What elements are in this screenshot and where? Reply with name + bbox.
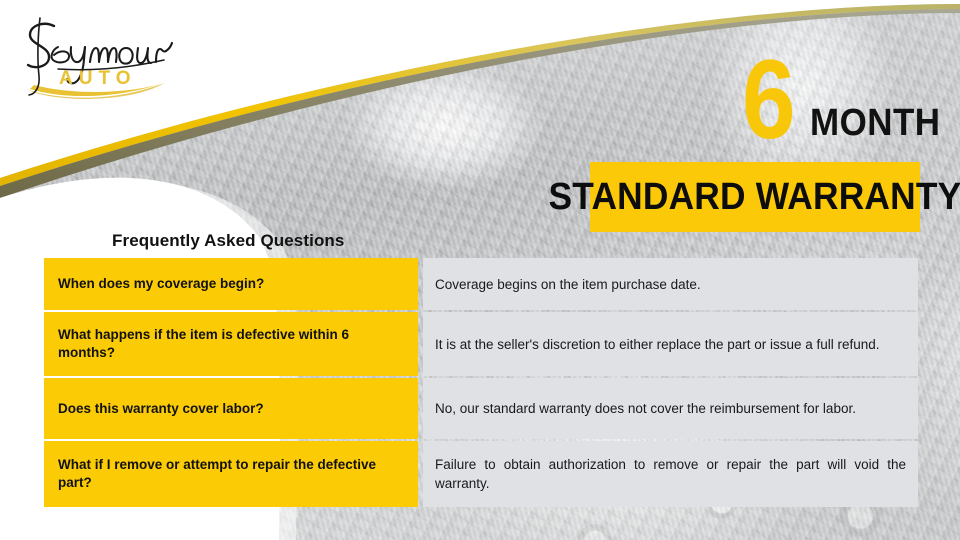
warranty-slide: AUTO 6 MONTH STANDARD WARRANTY Frequentl… [0,0,960,540]
standard-warranty-banner-text: STANDARD WARRANTY [549,177,960,217]
faq-question: What happens if the item is defective wi… [44,312,418,376]
faq-answer: Failure to obtain authorization to remov… [423,441,918,507]
svg-text:AUTO: AUTO [59,68,136,89]
faq-table: When does my coverage begin? Coverage be… [44,258,918,507]
faq-question: When does my coverage begin? [44,258,418,310]
faq-row: What if I remove or attempt to repair th… [44,441,918,507]
faq-answer: Coverage begins on the item purchase dat… [423,258,918,310]
faq-question: What if I remove or attempt to repair th… [44,441,418,507]
warranty-months-label: MONTH [810,104,940,142]
standard-warranty-banner: STANDARD WARRANTY [590,162,920,232]
faq-answer: No, our standard warranty does not cover… [423,378,918,439]
faq-row: When does my coverage begin? Coverage be… [44,258,918,310]
faq-row: What happens if the item is defective wi… [44,312,918,376]
warranty-months-number: 6 [742,44,794,156]
faq-answer: It is at the seller's discretion to eith… [423,312,918,376]
seymour-auto-logo: AUTO [14,14,204,106]
faq-heading: Frequently Asked Questions [112,231,344,251]
faq-row: Does this warranty cover labor? No, our … [44,378,918,439]
faq-question: Does this warranty cover labor? [44,378,418,439]
